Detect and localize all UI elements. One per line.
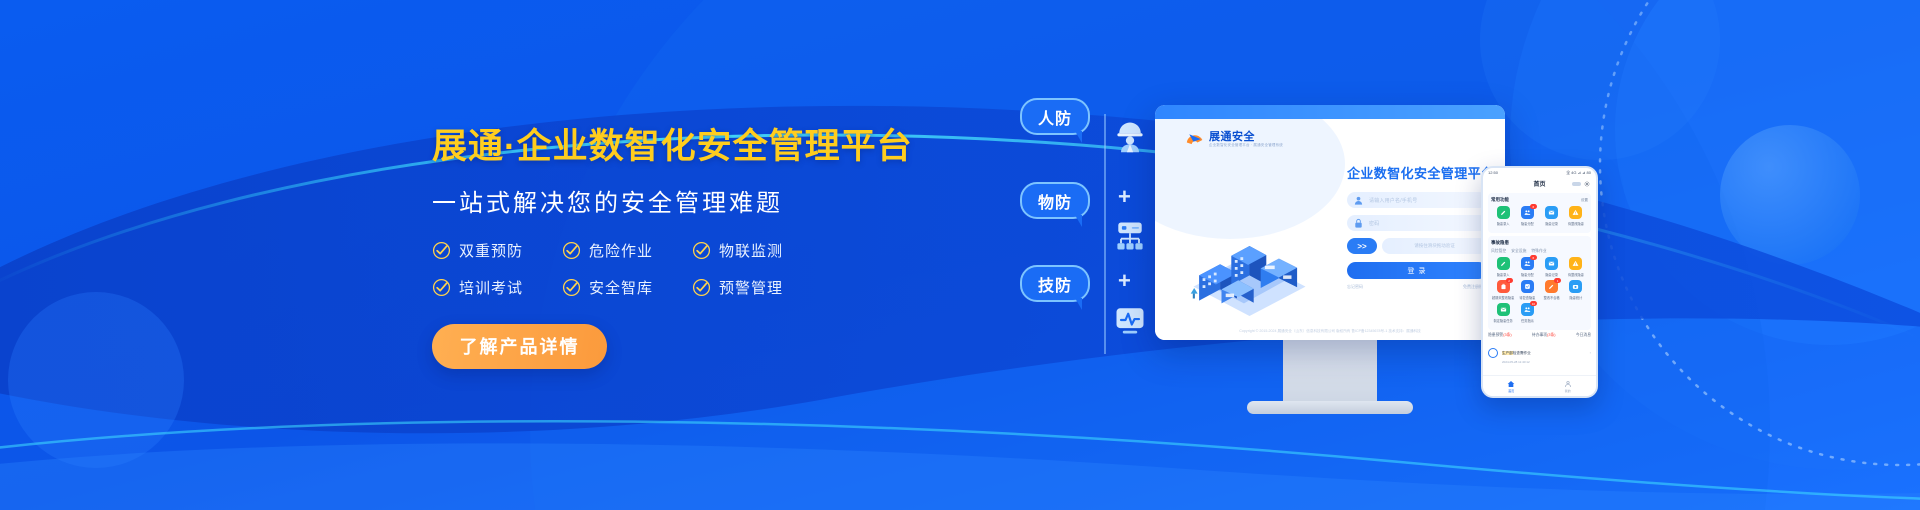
app-label: 待复查隐患 bbox=[1519, 295, 1535, 300]
feature-label: 安全智库 bbox=[589, 277, 653, 298]
feature-label: 物联监测 bbox=[719, 240, 783, 261]
list-item-rest: 检查需作业 bbox=[1513, 351, 1531, 355]
people-icon[interactable]: 6 bbox=[1521, 206, 1534, 219]
plus-separator-2: + bbox=[1118, 268, 1131, 294]
user-icon bbox=[1564, 380, 1572, 388]
list-tab-alerts[interactable]: 隐患预警(3条) bbox=[1488, 333, 1512, 338]
app-icon-grid: 隐患录入 6 隐患分配 bbox=[1491, 206, 1588, 229]
feature-item: 培训考试 bbox=[432, 277, 562, 298]
chevron-right-icon: › bbox=[1590, 350, 1591, 355]
nav-item-home[interactable]: 首页 bbox=[1483, 376, 1540, 396]
hero-copy: 展通·企业数智化安全管理平台 一站式解决您的安全管理难题 双重预防 危险作业 bbox=[432, 128, 992, 369]
app-label: 隐患分配 bbox=[1521, 221, 1534, 226]
mail-glyph-icon bbox=[1548, 209, 1555, 216]
camera-glyph-icon bbox=[1572, 283, 1579, 290]
app-label: 待整改隐患 bbox=[1568, 272, 1584, 277]
list-item-time: 2024-05-28 11:40:12 bbox=[1502, 360, 1590, 364]
tab-safety-facility[interactable]: 安全设施 bbox=[1511, 249, 1526, 254]
list-tab-todo[interactable]: 待办事项(3条) bbox=[1532, 333, 1556, 338]
password-placeholder: 密码 bbox=[1369, 220, 1379, 227]
app-label: 隐患录入 bbox=[1497, 221, 1510, 226]
defense-rail: 人防 + 物防 + 技防 bbox=[1020, 90, 1170, 380]
check-circle-icon bbox=[562, 241, 581, 260]
phone-section-common: 常用功能 设置 隐患录入 bbox=[1488, 193, 1591, 233]
app-cell[interactable]: 6 隐患分配 bbox=[1515, 206, 1539, 226]
user-icon bbox=[1353, 195, 1364, 206]
learn-more-button[interactable]: 了解产品详情 bbox=[432, 324, 607, 369]
badge-label: 人防 bbox=[1038, 105, 1072, 129]
warning-glyph-icon bbox=[1572, 209, 1579, 216]
app-cell[interactable]: 1 整改不合格 bbox=[1540, 280, 1564, 300]
gear-icon[interactable] bbox=[1584, 181, 1590, 187]
brand-mark-icon bbox=[1185, 131, 1205, 149]
notification-badge: 6 bbox=[1530, 255, 1537, 260]
section-title-row: 事故隐患 bbox=[1491, 240, 1588, 246]
check-doc-icon[interactable] bbox=[1521, 280, 1534, 293]
app-cell[interactable]: 隐患录入 bbox=[1491, 257, 1515, 277]
list-item-highlight: 生产部 bbox=[1502, 351, 1513, 355]
username-field[interactable]: 请输入用户名/手机号 bbox=[1347, 192, 1487, 208]
mobile-app-preview: 12:50 全 4G ⊿ ⊿ 80 首页 常用功能 设置 bbox=[1481, 166, 1598, 398]
copyright-text: Copyright © 2015-2024 展通安全（山东）信息科技有限公司 版… bbox=[1239, 329, 1420, 334]
list-tab-alerts-label: 隐患预警 bbox=[1488, 333, 1503, 337]
section-title: 常用功能 bbox=[1491, 197, 1509, 203]
page-subtitle: 一站式解决您的安全管理难题 bbox=[432, 183, 992, 218]
captcha-track[interactable]: 请按住滑块拖动验证 bbox=[1382, 238, 1487, 254]
section-tabs: 风险管控 安全设施 特殊作业 bbox=[1491, 249, 1588, 254]
status-indicators: 全 4G ⊿ ⊿ 80 bbox=[1566, 170, 1591, 176]
plus-separator-1: + bbox=[1118, 184, 1131, 210]
monitor-pulse-icon bbox=[1112, 302, 1148, 338]
app-label: 隐患记录 bbox=[1545, 272, 1558, 277]
feature-item: 危险作业 bbox=[562, 240, 692, 261]
feature-item: 预警管理 bbox=[692, 277, 822, 298]
check-circle-icon bbox=[562, 278, 581, 297]
camera-icon[interactable] bbox=[1569, 280, 1582, 293]
feature-item: 安全智库 bbox=[562, 277, 692, 298]
badge-label: 技防 bbox=[1038, 272, 1072, 296]
badge-wufang[interactable]: 物防 bbox=[1020, 182, 1090, 219]
list-item-title: 生产部检查需作业 bbox=[1502, 351, 1531, 355]
feature-list: 双重预防 危险作业 物联监测 bbox=[432, 240, 822, 314]
feature-label: 危险作业 bbox=[589, 240, 653, 261]
mail-glyph-icon bbox=[1548, 260, 1555, 267]
app-cell[interactable]: 制定隐患任务 bbox=[1491, 303, 1515, 323]
check-doc-glyph-icon bbox=[1524, 283, 1531, 290]
check-circle-icon bbox=[692, 278, 711, 297]
people-glyph-icon bbox=[1524, 209, 1531, 216]
radio-icon bbox=[1488, 348, 1498, 358]
trash-glyph-icon bbox=[1500, 283, 1507, 290]
phone-header: 首页 bbox=[1483, 177, 1596, 190]
badge-jifang[interactable]: 技防 bbox=[1020, 265, 1090, 302]
edit-icon[interactable] bbox=[1497, 206, 1510, 219]
app-label: 隐患分配 bbox=[1521, 272, 1534, 277]
warning-icon[interactable] bbox=[1569, 257, 1582, 270]
login-page: 展通安全 企业数智化安全管理平台 · 展通安全管理系统 bbox=[1155, 119, 1505, 340]
list-tabs: 隐患预警(3条) 待办事项(3条) 今日消息 bbox=[1488, 333, 1591, 338]
rail-connector bbox=[1104, 114, 1106, 354]
badge-label: 物防 bbox=[1038, 189, 1072, 213]
list-tab-alerts-count: (3条) bbox=[1503, 333, 1511, 337]
mail-glyph-icon bbox=[1500, 306, 1507, 313]
captcha-handle[interactable]: >> bbox=[1347, 238, 1377, 254]
feature-item: 物联监测 bbox=[692, 240, 822, 261]
notification-badge: 2 bbox=[1506, 278, 1513, 283]
edit-alert-icon[interactable]: 1 bbox=[1545, 280, 1558, 293]
worker-helmet-icon bbox=[1112, 118, 1148, 154]
network-server-icon bbox=[1112, 218, 1148, 254]
check-circle-icon bbox=[432, 241, 451, 260]
notification-badge: 6 bbox=[1530, 204, 1537, 209]
section-title: 事故隐患 bbox=[1491, 240, 1509, 246]
section-action[interactable]: 设置 bbox=[1581, 198, 1588, 203]
people-icon[interactable]: 6 bbox=[1521, 257, 1534, 270]
people-icon[interactable]: 10 bbox=[1521, 303, 1534, 316]
app-label: 整改不合格 bbox=[1544, 295, 1560, 300]
check-circle-icon bbox=[432, 278, 451, 297]
app-label: 任务指派 bbox=[1521, 318, 1534, 323]
app-icon-grid: 隐患录入 6 隐患分配 bbox=[1491, 257, 1588, 326]
hero-banner: 展通·企业数智化安全管理平台 一站式解决您的安全管理难题 双重预防 危险作业 bbox=[0, 0, 1920, 510]
mail-icon[interactable] bbox=[1545, 206, 1558, 219]
forgot-password-link[interactable]: 忘记密码 bbox=[1347, 284, 1363, 290]
people-glyph-icon bbox=[1524, 260, 1531, 267]
list-item[interactable]: 生产部检查需作业 2024-05-28 11:40:12 › bbox=[1488, 341, 1591, 364]
monitor-screen: 展通安全 企业数智化安全管理平台 · 展通安全管理系统 bbox=[1155, 105, 1505, 340]
notification-badge: 1 bbox=[1554, 278, 1561, 283]
monitor-stand-neck bbox=[1283, 340, 1377, 403]
edit-glyph-icon bbox=[1500, 260, 1507, 267]
nav-item-profile[interactable]: 我的 bbox=[1540, 376, 1597, 396]
login-title: 企业数智化安全管理平台 bbox=[1347, 163, 1487, 182]
lock-icon bbox=[1353, 218, 1364, 229]
warning-icon[interactable] bbox=[1569, 206, 1582, 219]
list-tab-todo-label: 待办事项 bbox=[1532, 333, 1547, 337]
check-circle-icon bbox=[692, 241, 711, 260]
app-cell[interactable]: 待整改隐患 bbox=[1564, 257, 1588, 277]
section-title-row: 常用功能 设置 bbox=[1491, 197, 1588, 203]
edit-icon[interactable] bbox=[1497, 257, 1510, 270]
app-cell[interactable]: 隐患记录 bbox=[1540, 206, 1564, 226]
notification-badge: 10 bbox=[1530, 301, 1537, 306]
monitor-stand-base bbox=[1247, 401, 1413, 414]
nav-label: 首页 bbox=[1508, 389, 1514, 393]
brand-name: 展通安全 bbox=[1209, 132, 1283, 143]
isometric-city-illustration bbox=[1177, 211, 1322, 316]
product-logo: 展通安全 企业数智化安全管理平台 · 展通安全管理系统 bbox=[1185, 131, 1283, 149]
app-label: 待整改隐患 bbox=[1568, 221, 1584, 226]
edit-alert-glyph-icon bbox=[1548, 283, 1555, 290]
edit-glyph-icon bbox=[1500, 209, 1507, 216]
search-pill[interactable] bbox=[1572, 182, 1581, 186]
home-icon bbox=[1507, 380, 1515, 388]
brand-tagline: 企业数智化安全管理平台 · 展通安全管理系统 bbox=[1209, 143, 1283, 148]
app-label: 制定隐患任务 bbox=[1494, 318, 1513, 323]
captcha-slider[interactable]: >> 请按住滑块拖动验证 bbox=[1347, 238, 1487, 254]
phone-status-bar: 12:50 全 4G ⊿ ⊿ 80 bbox=[1483, 168, 1596, 177]
page-title: 展通·企业数智化安全管理平台 bbox=[432, 128, 992, 167]
app-label: 隐患统计 bbox=[1570, 295, 1583, 300]
app-cell[interactable]: 2 超期未整改隐患 bbox=[1491, 280, 1515, 300]
feature-label: 双重预防 bbox=[459, 240, 523, 261]
phone-bottom-nav: 首页 我的 bbox=[1483, 375, 1596, 396]
username-placeholder: 请输入用户名/手机号 bbox=[1369, 197, 1417, 204]
mail-icon[interactable] bbox=[1497, 303, 1510, 316]
app-cell[interactable]: 待整改隐患 bbox=[1564, 206, 1588, 226]
tab-special-work[interactable]: 特殊作业 bbox=[1531, 249, 1546, 254]
app-cell[interactable]: 10 任务指派 bbox=[1515, 303, 1539, 323]
status-time: 12:50 bbox=[1488, 170, 1498, 175]
list-tab-messages[interactable]: 今日消息 bbox=[1576, 333, 1591, 338]
screen-titlebar bbox=[1155, 105, 1505, 119]
feature-label: 预警管理 bbox=[719, 277, 783, 298]
warning-glyph-icon bbox=[1572, 260, 1579, 267]
app-label: 隐患记录 bbox=[1545, 221, 1558, 226]
phone-section-hazards: 事故隐患 风险管控 安全设施 特殊作业 隐患录入 bbox=[1488, 236, 1591, 330]
login-form: 企业数智化安全管理平台 请输入用户名/手机号 密码 bbox=[1347, 163, 1487, 290]
list-item-text: 生产部检查需作业 2024-05-28 11:40:12 bbox=[1502, 341, 1590, 364]
list-tab-todo-count: (3条) bbox=[1547, 333, 1555, 337]
feature-label: 培训考试 bbox=[459, 277, 523, 298]
mail-icon[interactable] bbox=[1545, 257, 1558, 270]
feature-item: 双重预防 bbox=[432, 240, 562, 261]
tab-risk-control[interactable]: 风险管控 bbox=[1491, 249, 1506, 254]
app-cell[interactable]: 隐患统计 bbox=[1564, 280, 1588, 300]
people-glyph-icon bbox=[1524, 306, 1531, 313]
login-submit-button[interactable]: 登 录 bbox=[1347, 262, 1487, 279]
login-footer-links: 忘记密码 免费注册账号 bbox=[1347, 284, 1487, 290]
trash-icon[interactable]: 2 bbox=[1497, 280, 1510, 293]
app-label: 超期未整改隐患 bbox=[1492, 295, 1514, 300]
app-cell[interactable]: 隐患记录 bbox=[1540, 257, 1564, 277]
badge-renfang[interactable]: 人防 bbox=[1020, 98, 1090, 135]
app-cell[interactable]: 隐患录入 bbox=[1491, 206, 1515, 226]
app-cell[interactable]: 6 隐患分配 bbox=[1515, 257, 1539, 277]
app-cell[interactable]: 待复查隐患 bbox=[1515, 280, 1539, 300]
nav-label: 我的 bbox=[1565, 389, 1571, 393]
app-label: 隐患录入 bbox=[1497, 272, 1510, 277]
password-field[interactable]: 密码 bbox=[1347, 215, 1487, 231]
phone-title: 首页 bbox=[1533, 179, 1545, 188]
